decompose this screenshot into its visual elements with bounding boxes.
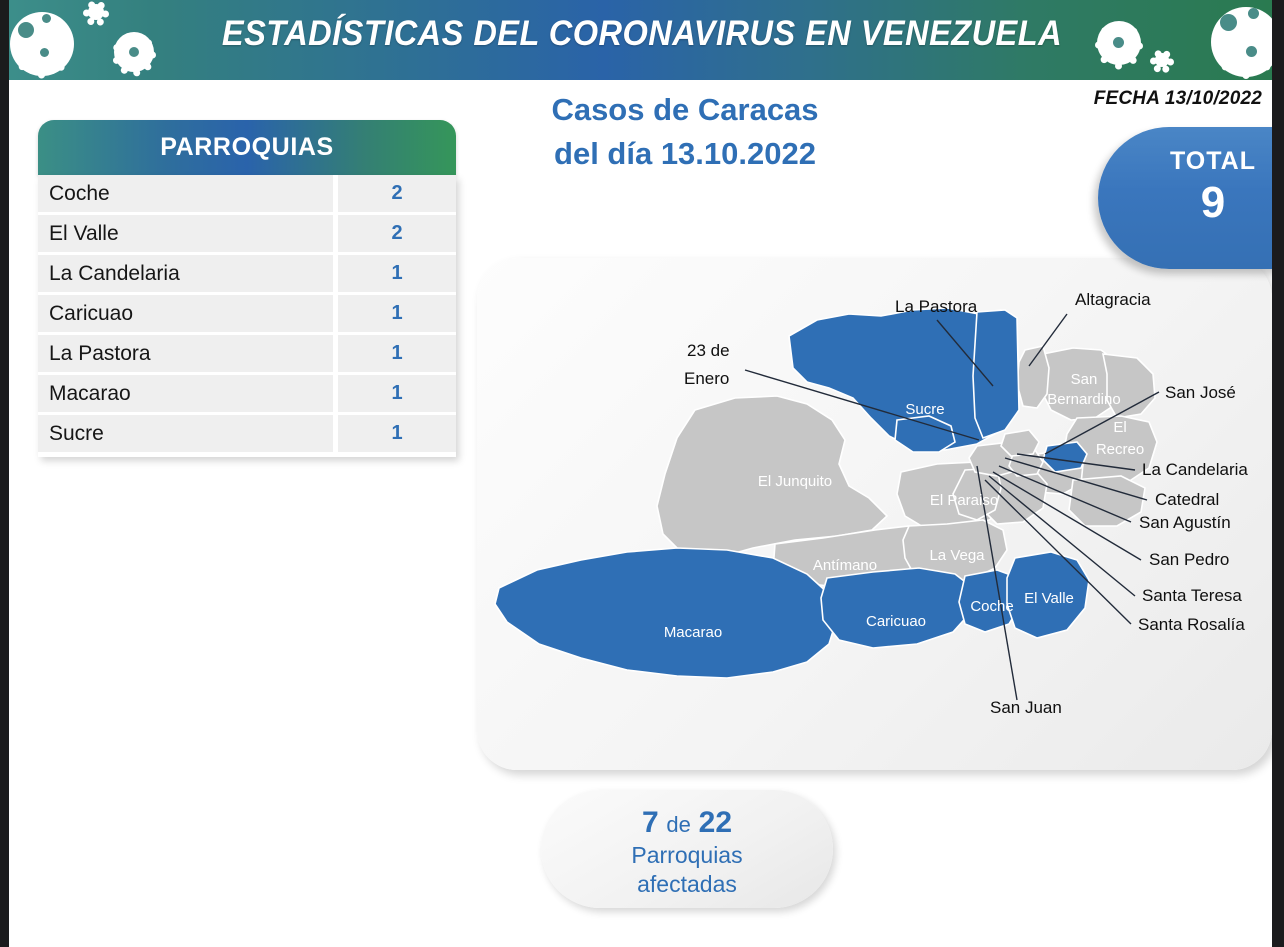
- map-callout-label: La Pastora: [895, 297, 978, 316]
- table-cell-count: 1: [338, 415, 456, 452]
- map-region-label: El Valle: [1024, 590, 1074, 607]
- map-region-label: La Vega: [929, 547, 985, 564]
- region-macarao: [495, 548, 837, 678]
- map-callout-label: San Juan: [990, 698, 1062, 717]
- table-cell-count: 1: [338, 255, 456, 292]
- affected-de: de: [666, 812, 690, 837]
- table-cell-parroquia: Coche: [38, 175, 333, 212]
- table-header-label: PARROQUIAS: [160, 133, 334, 162]
- frame-edge-right: [1272, 0, 1284, 947]
- total-label: TOTAL: [1098, 147, 1284, 176]
- chart-title-line2: del día 13.10.2022: [470, 132, 900, 176]
- region-altagracia: [1017, 346, 1049, 408]
- map-region-label: El Junquito: [758, 473, 832, 490]
- map-callout-label: 23 de: [687, 341, 730, 360]
- map-region-label: Sucre: [905, 401, 944, 418]
- affected-total: 22: [699, 806, 732, 839]
- total-badge: TOTAL 9: [1098, 127, 1284, 269]
- map-region-label: Recreo: [1096, 441, 1144, 458]
- table-row: La Pastora1: [38, 335, 456, 372]
- map-callout-label: San José: [1165, 383, 1236, 402]
- date-label: FECHA 13/10/2022: [1094, 88, 1262, 110]
- map-region-label: Antímano: [813, 557, 877, 574]
- map-region-label: Caricuao: [866, 613, 926, 630]
- map-callout-label: La Candelaria: [1142, 460, 1248, 479]
- map-region-label: El Paraiso: [930, 492, 998, 509]
- table-cell-count: 2: [338, 175, 456, 212]
- table-cell-count: 2: [338, 215, 456, 252]
- table-body: Coche2El Valle2La Candelaria1Caricuao1La…: [38, 175, 456, 457]
- map-region-label: Bernardino: [1047, 391, 1120, 408]
- table-row: La Candelaria1: [38, 255, 456, 292]
- region-caricuao: [821, 568, 973, 648]
- map-callout-label: Enero: [684, 369, 729, 388]
- map-callout-label: Santa Rosalía: [1138, 615, 1245, 634]
- header-banner: ESTADÍSTICAS DEL CORONAVIRUS EN VENEZUEL…: [0, 0, 1284, 80]
- affected-ratio: 7 de 22: [541, 806, 833, 841]
- table-cell-parroquia: El Valle: [38, 215, 333, 252]
- chart-title-line1: Casos de Caracas: [470, 88, 900, 132]
- infographic-canvas: ESTADÍSTICAS DEL CORONAVIRUS EN VENEZUEL…: [0, 0, 1284, 947]
- total-value: 9: [1098, 178, 1284, 228]
- table-cell-parroquia: Sucre: [38, 415, 333, 452]
- table-header: PARROQUIAS: [38, 120, 456, 175]
- region-la-candelaria: [1043, 442, 1087, 472]
- affected-count: 7: [642, 806, 659, 839]
- map-callout-label: San Pedro: [1149, 550, 1229, 569]
- region-la-pastora: [973, 310, 1019, 438]
- page-title: ESTADÍSTICAS DEL CORONAVIRUS EN VENEZUEL…: [45, 14, 1239, 54]
- table-cell-parroquia: Caricuao: [38, 295, 333, 332]
- table-cell-count: 1: [338, 295, 456, 332]
- region-catedral: [1001, 430, 1039, 456]
- map-region-label: Coche: [970, 598, 1013, 615]
- table-cell-count: 1: [338, 375, 456, 412]
- map-region-label: El: [1113, 419, 1126, 436]
- frame-edge-left: [0, 0, 9, 947]
- affected-label-line2: afectadas: [541, 870, 833, 900]
- table-row: Macarao1: [38, 375, 456, 412]
- affected-summary-pill: 7 de 22 Parroquias afectadas: [541, 790, 833, 908]
- map-region-label: San: [1071, 371, 1098, 388]
- map-callout-label: San Agustín: [1139, 513, 1231, 532]
- map-region-label: Macarao: [664, 624, 722, 641]
- table-cell-parroquia: La Candelaria: [38, 255, 333, 292]
- table-cell-parroquia: La Pastora: [38, 335, 333, 372]
- table-row: Sucre1: [38, 415, 456, 452]
- parroquias-table: PARROQUIAS Coche2El Valle2La Candelaria1…: [38, 120, 456, 457]
- table-row: Coche2: [38, 175, 456, 212]
- affected-label-line1: Parroquias: [541, 841, 833, 871]
- table-row: Caricuao1: [38, 295, 456, 332]
- map-callout-label: Catedral: [1155, 490, 1219, 509]
- chart-title: Casos de Caracas del día 13.10.2022: [470, 88, 900, 176]
- table-cell-parroquia: Macarao: [38, 375, 333, 412]
- map-callout-label: Santa Teresa: [1142, 586, 1242, 605]
- table-row: El Valle2: [38, 215, 456, 252]
- caracas-parish-map: SucreEl JunquitoEl ParaisoLa VegaAntíman…: [477, 258, 1272, 770]
- table-cell-count: 1: [338, 335, 456, 372]
- map-callout-label: Altagracia: [1075, 290, 1151, 309]
